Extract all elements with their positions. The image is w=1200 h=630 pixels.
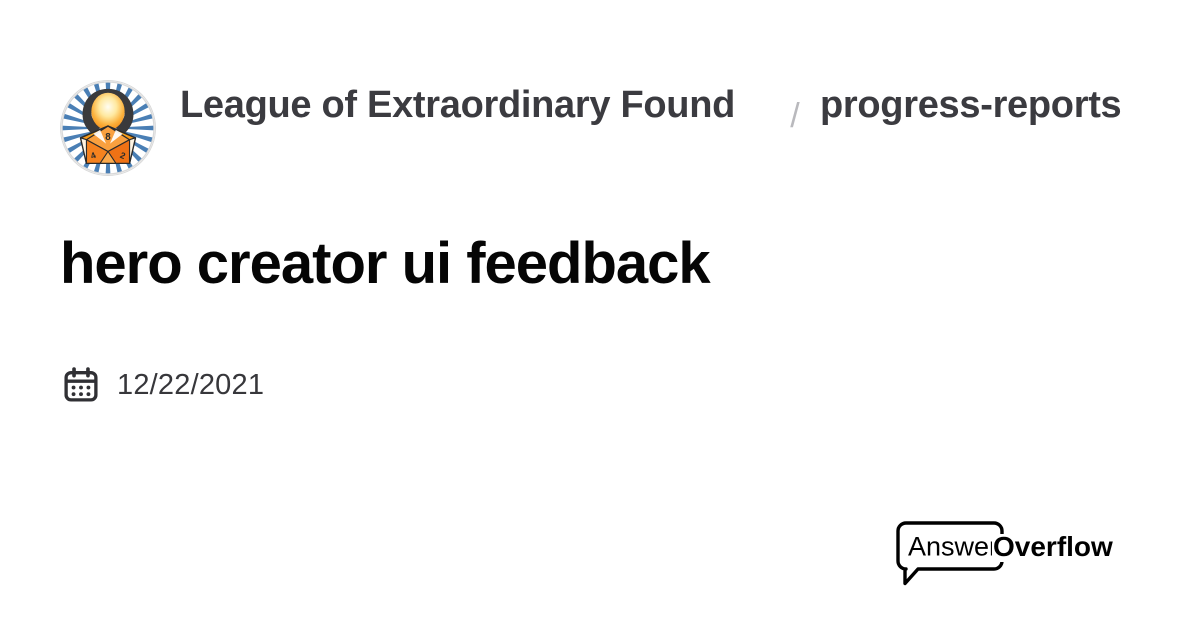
calendar-icon	[62, 366, 100, 404]
answeroverflow-logo: Answer Overflow	[888, 518, 1120, 588]
brand-name-light: Answer	[908, 532, 998, 562]
og-preview-card: 8 4 2 League of Extraordinary Found / pr…	[0, 0, 1200, 630]
server-avatar: 8 4 2	[60, 80, 156, 176]
breadcrumb-separator: /	[780, 94, 810, 138]
date-row: 12/22/2021	[62, 366, 264, 404]
thread-date: 12/22/2021	[117, 366, 264, 404]
brand-name-bold: Overflow	[993, 531, 1113, 562]
server-name: League of Extraordinary Found	[180, 80, 735, 130]
server-block: 8 4 2 League of Extraordinary Found	[60, 80, 780, 176]
svg-text:8: 8	[105, 132, 111, 143]
page-title: hero creator ui feedback	[60, 228, 1140, 300]
breadcrumb: 8 4 2 League of Extraordinary Found / pr…	[60, 80, 1150, 176]
channel-name: progress-reports	[820, 80, 1150, 130]
